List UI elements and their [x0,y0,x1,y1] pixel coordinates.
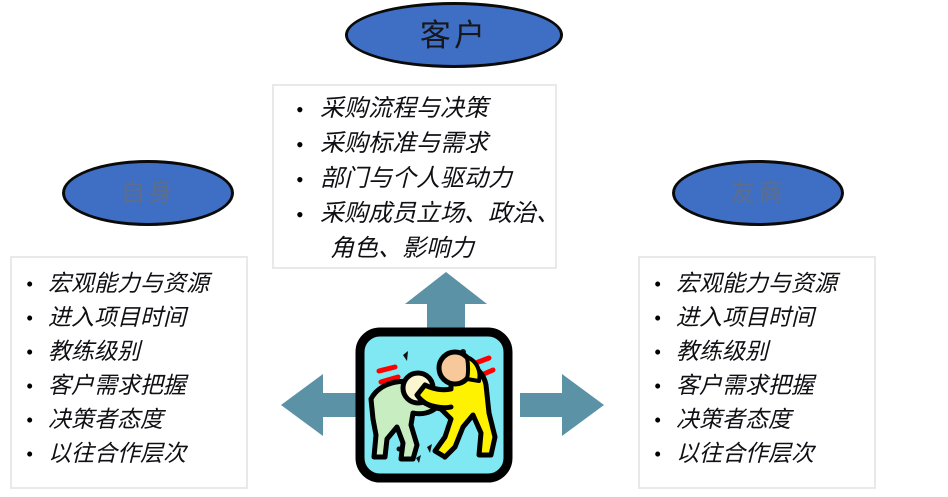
bullet-text: 进入项目时间 [48,305,186,330]
bullet-text: 决策者态度 [48,407,163,432]
list-item: 采购成员立场、政治、 角色、影响力 [274,197,555,267]
list-item: 采购标准与需求 [274,127,555,162]
arrow-up-icon [405,272,487,334]
bullet-text: 采购标准与需求 [320,131,488,157]
wrestlers-clipart-icon [355,327,513,483]
bullet-text: 以往合作层次 [676,441,814,466]
bullet-text: 进入项目时间 [676,305,814,330]
bullet-list-self: 宏观能力与资源 进入项目时间 教练级别 客户需求把握 决策者态度 以往合作层次 [12,267,246,471]
list-item: 宏观能力与资源 [12,267,246,301]
list-item: 采购流程与决策 [274,92,555,127]
list-item: 客户需求把握 [640,369,874,403]
list-item: 以往合作层次 [12,437,246,471]
bullet-text: 部门与个人驱动力 [320,166,512,192]
bullet-list-competitor: 宏观能力与资源 进入项目时间 教练级别 客户需求把握 决策者态度 以往合作层次 [640,267,874,471]
list-item: 宏观能力与资源 [640,267,874,301]
bullet-text: 决策者态度 [676,407,791,432]
node-label-customer: 客户 [420,20,488,51]
list-item: 决策者态度 [12,403,246,437]
list-item: 以往合作层次 [640,437,874,471]
arrow-right-icon [520,374,604,436]
bullet-text: 客户需求把握 [48,373,186,398]
list-item: 进入项目时间 [640,301,874,335]
bullet-text-continuation: 角色、影响力 [320,232,555,267]
node-ellipse-customer[interactable]: 客户 [345,2,563,68]
bullet-list-customer: 采购流程与决策 采购标准与需求 部门与个人驱动力 采购成员立场、政治、 角色、影… [274,92,555,267]
node-label-self: 自身 [120,181,175,206]
list-item: 客户需求把握 [12,369,246,403]
diagram-canvas: 客户 自身 友商 采购流程与决策 采购标准与需求 部门与个人驱动力 采购成员立场… [0,0,948,497]
bullet-text: 教练级别 [48,339,140,364]
arrow-left-icon [281,374,365,436]
list-item: 教练级别 [640,335,874,369]
bullet-text: 宏观能力与资源 [676,271,837,296]
bullet-text: 采购成员立场、政治、 [320,201,560,227]
list-item: 教练级别 [12,335,246,369]
list-item: 部门与个人驱动力 [274,162,555,197]
node-label-competitor: 友商 [730,181,785,206]
bullet-text: 以往合作层次 [48,441,186,466]
bullet-text: 客户需求把握 [676,373,814,398]
bullet-box-self: 宏观能力与资源 进入项目时间 教练级别 客户需求把握 决策者态度 以往合作层次 [10,256,248,489]
list-item: 决策者态度 [640,403,874,437]
node-ellipse-self[interactable]: 自身 [62,160,234,226]
bullet-box-competitor: 宏观能力与资源 进入项目时间 教练级别 客户需求把握 决策者态度 以往合作层次 [638,256,876,489]
bullet-text: 教练级别 [676,339,768,364]
node-ellipse-competitor[interactable]: 友商 [672,160,844,226]
bullet-text: 宏观能力与资源 [48,271,209,296]
list-item: 进入项目时间 [12,301,246,335]
bullet-text: 采购流程与决策 [320,96,488,122]
bullet-box-customer: 采购流程与决策 采购标准与需求 部门与个人驱动力 采购成员立场、政治、 角色、影… [272,84,557,269]
